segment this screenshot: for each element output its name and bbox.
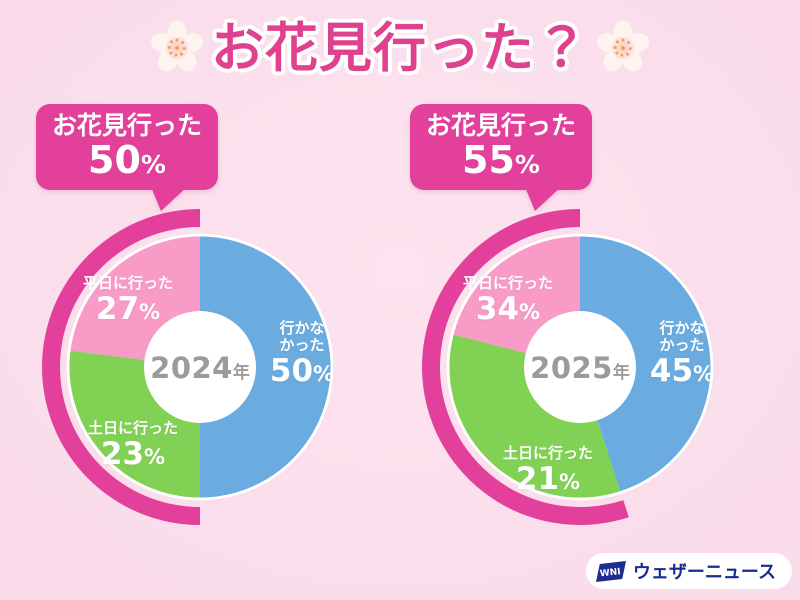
- infographic-canvas: お花見行った？ お花見行った 50%: [0, 0, 800, 600]
- page-title: お花見行った？: [211, 22, 589, 75]
- callout-value: 55%: [426, 141, 576, 181]
- sakura-flower-icon-right: [595, 20, 651, 76]
- callout-bubble-2024: お花見行った 50%: [36, 104, 218, 190]
- callout-value: 50%: [52, 141, 202, 181]
- donut-chart-2024-svg: [35, 195, 365, 535]
- callout-number: 50: [88, 138, 141, 182]
- sakura-flower-icon-left: [149, 20, 205, 76]
- weathernews-logo[interactable]: WNI ウェザーニュース: [586, 553, 792, 589]
- callout-percent-symbol: %: [515, 150, 540, 179]
- donut-chart-2024: 行かな かった 50% 平日に行った 27% 土日に行った 23% 2024年: [35, 195, 365, 535]
- callout-percent-symbol: %: [141, 150, 166, 179]
- page-title-row: お花見行った？: [0, 8, 800, 88]
- donut-hole-2024: [144, 311, 256, 423]
- logo-text: ウェザーニュース: [633, 558, 776, 584]
- donut-chart-2025-svg: [415, 195, 745, 535]
- callout-label: お花見行った: [426, 112, 576, 140]
- callout-bubble-2025: お花見行った 55%: [410, 104, 592, 190]
- donut-chart-2025: 行かな かった 45% 平日に行った 34% 土日に行った 21% 2025年: [415, 195, 745, 535]
- callout-number: 55: [462, 138, 515, 182]
- wni-logo-mark-icon: WNI: [596, 561, 626, 582]
- callout-label: お花見行った: [52, 112, 202, 140]
- donut-hole-2025: [524, 311, 636, 423]
